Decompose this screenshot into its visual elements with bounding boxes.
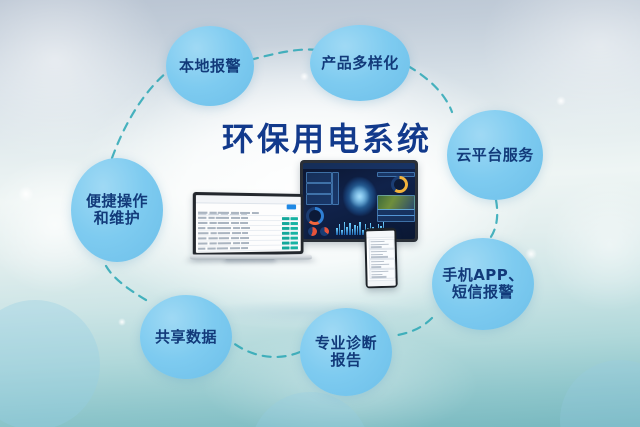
- smartphone: [364, 228, 398, 289]
- dashboard-panel: [332, 172, 339, 205]
- bubble-label-line1: 手机APP、: [442, 267, 524, 284]
- sparkle-top-right: [556, 96, 566, 106]
- donut-chart-hole: [394, 179, 405, 190]
- bubble-label-line1: 专业诊断: [315, 335, 377, 352]
- phone-screen: [366, 230, 395, 286]
- gauge-chart: [320, 227, 329, 236]
- laptop-lid: [193, 192, 304, 256]
- bubble-label: 本地报警: [179, 58, 241, 75]
- table-toolbar: [198, 203, 299, 209]
- bubble-label: 共享数据: [155, 329, 217, 346]
- sparkle-right: [525, 248, 537, 260]
- bubble-shared-data[interactable]: 共享数据: [140, 295, 232, 379]
- bubble-label: 云平台服务: [456, 147, 534, 164]
- bubble-label-line2: 短信报警: [442, 284, 524, 301]
- sparkle-left: [18, 186, 34, 202]
- laptop-base: [189, 255, 313, 260]
- page-title: 环保用电系统: [222, 114, 432, 160]
- phone-app-header: [366, 230, 394, 238]
- monitor-screen: [303, 163, 415, 239]
- phone-list-item[interactable]: [369, 268, 395, 279]
- laptop-screen: [196, 195, 301, 253]
- video-thumbnail: [377, 195, 415, 210]
- phone-list-item[interactable]: [369, 248, 395, 259]
- bubble-cloud-platform[interactable]: 云平台服务: [447, 110, 543, 200]
- phone-bottom-nav[interactable]: [368, 279, 396, 286]
- poster-canvas: 环保用电系统 本地报警 产品多样化 云平台服务 便捷操作 和维护 手机APP、 …: [0, 0, 640, 427]
- bubble-label-group: 手机APP、 短信报警: [442, 267, 524, 301]
- bubble-label: 产品多样化: [321, 55, 399, 72]
- table-row[interactable]: [198, 245, 299, 252]
- bubble-label-group: 便捷操作 和维护: [86, 193, 148, 227]
- phone-list-item[interactable]: [369, 258, 395, 269]
- bubble-product-diversity[interactable]: 产品多样化: [310, 25, 410, 101]
- decorative-circle-bottom-right: [560, 360, 640, 427]
- sparkle-bottom-left: [118, 318, 126, 326]
- bubble-professional-report[interactable]: 专业诊断 报告: [300, 308, 392, 396]
- phone-list-item[interactable]: [368, 238, 394, 249]
- desktop-monitor: [300, 160, 418, 242]
- bubble-local-alarm[interactable]: 本地报警: [166, 26, 254, 106]
- background-glow-right: [540, 170, 640, 320]
- bubble-label-line2: 和维护: [86, 210, 148, 227]
- dashboard-panel: [306, 172, 332, 183]
- bubble-mobile-app-sms[interactable]: 手机APP、 短信报警: [432, 238, 534, 330]
- background-glow-top-left: [0, 0, 170, 160]
- decorative-circle-bottom-left: [0, 300, 100, 427]
- decorative-circle-bottom-center: [250, 392, 370, 427]
- laptop: [190, 193, 312, 265]
- china-map-visual: [343, 177, 377, 217]
- sparkle-top: [300, 72, 309, 81]
- toolbar-primary-button[interactable]: [287, 204, 296, 209]
- bubble-easy-operation[interactable]: 便捷操作 和维护: [71, 158, 163, 262]
- bubble-label-line1: 便捷操作: [86, 193, 148, 210]
- dashboard-topbar: [303, 163, 415, 169]
- device-cluster: [190, 160, 430, 310]
- bubble-label-group: 专业诊断 报告: [315, 335, 377, 369]
- bubble-label-line2: 报告: [315, 352, 377, 369]
